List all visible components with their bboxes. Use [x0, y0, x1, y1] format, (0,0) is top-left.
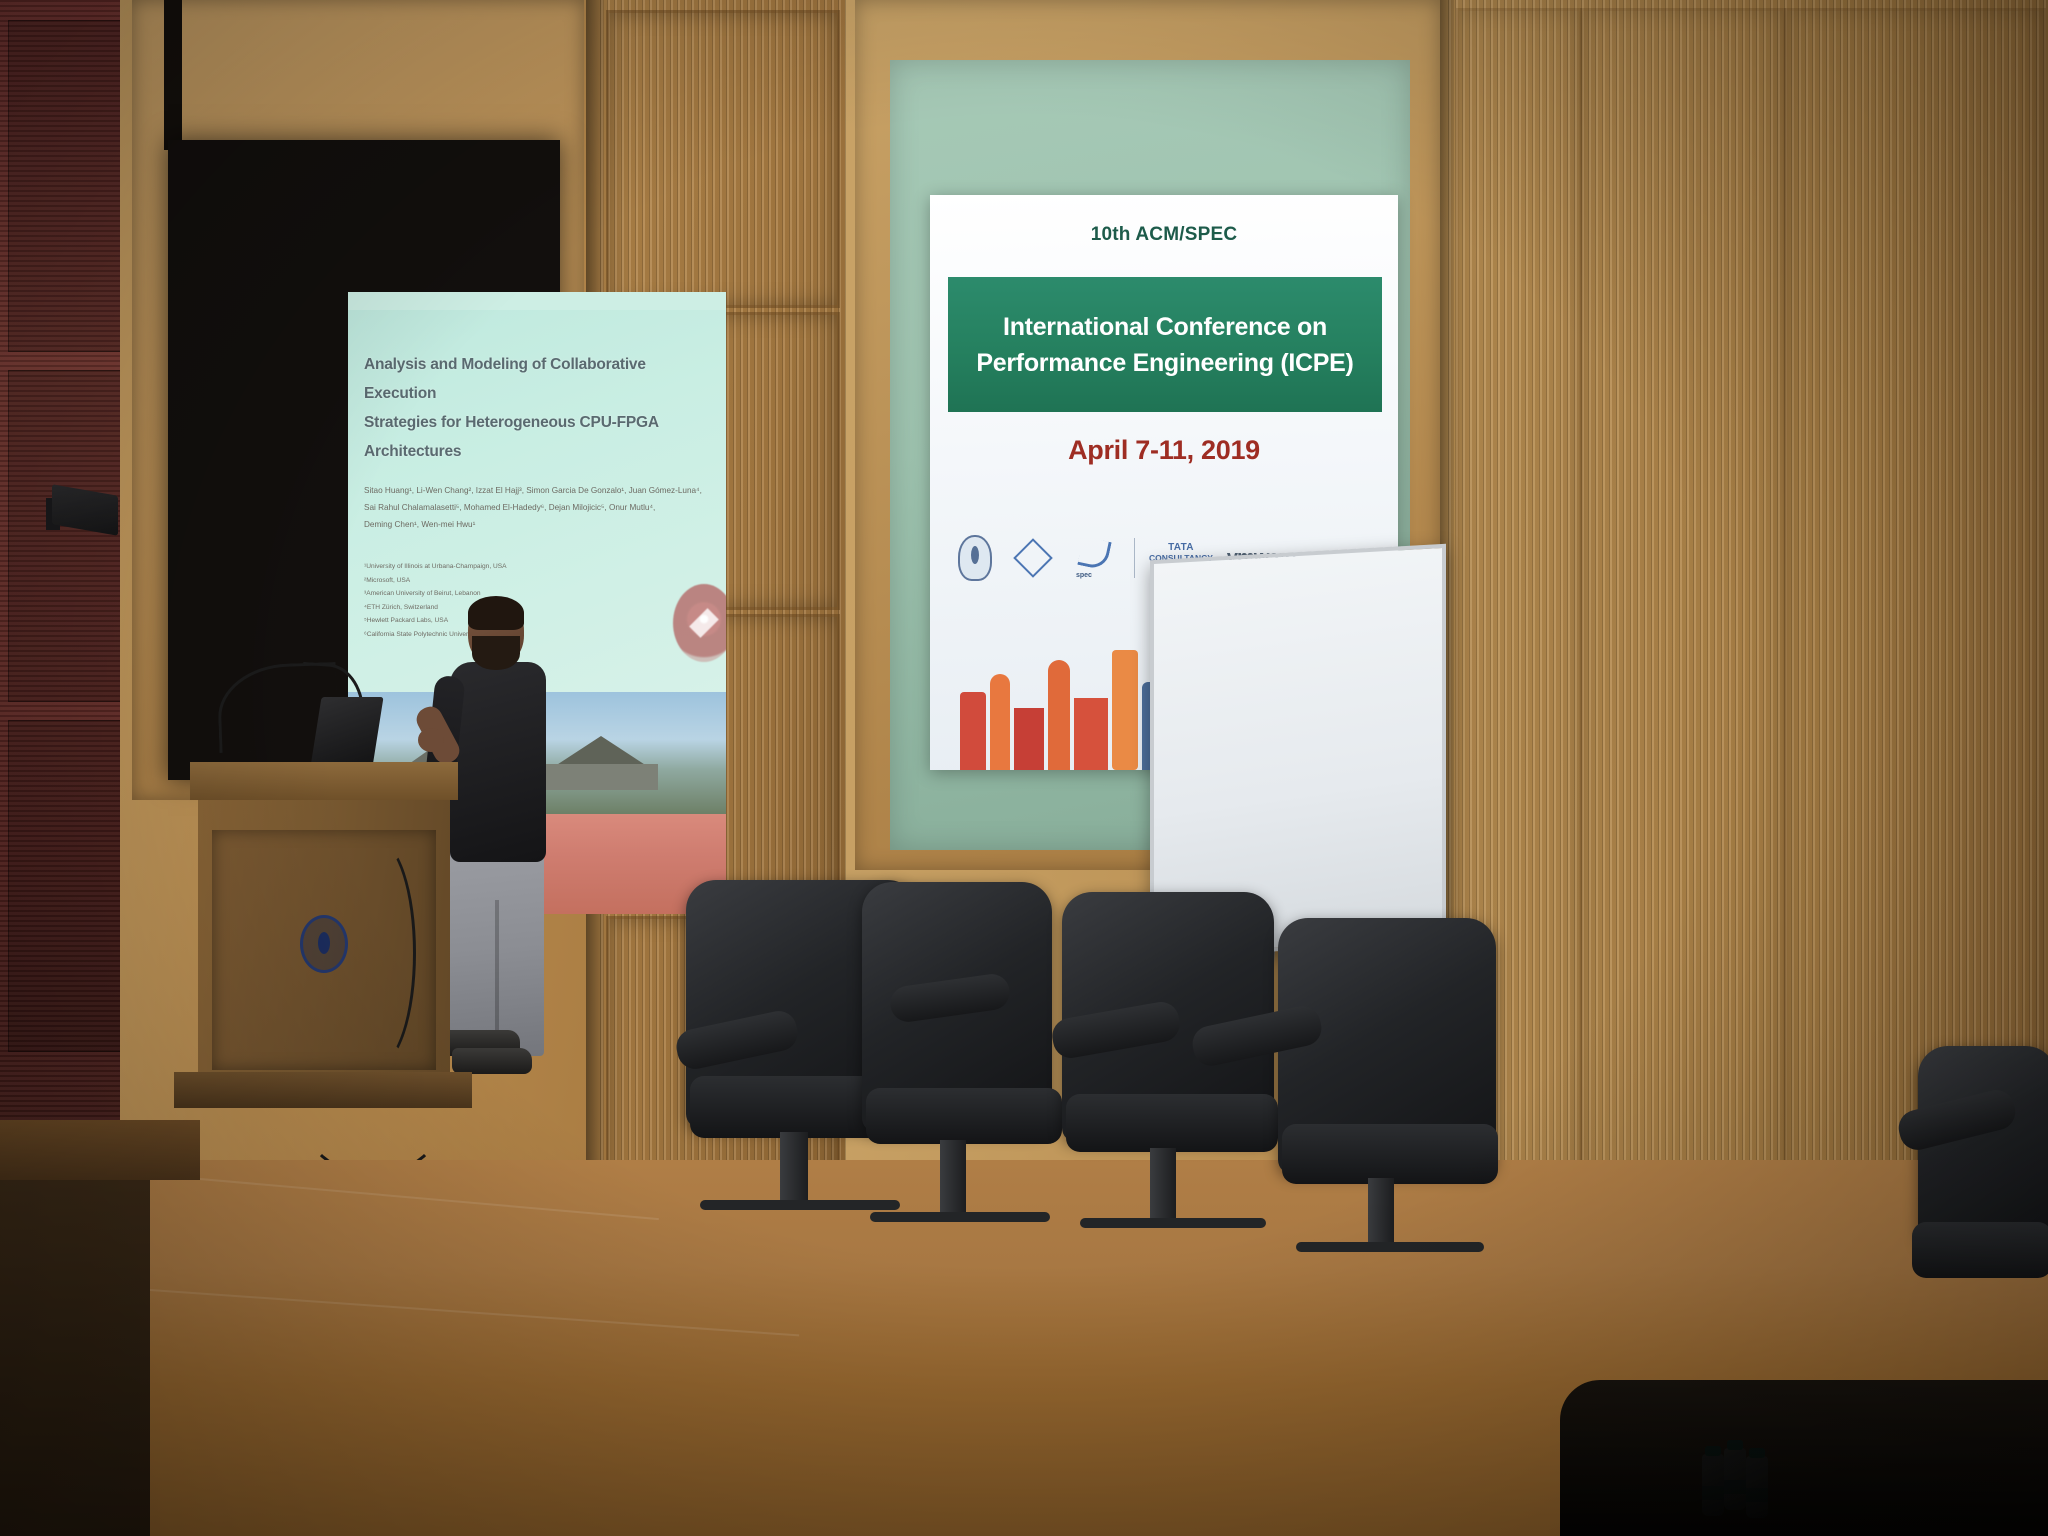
banner-title-block: International Conference on Performance … [948, 277, 1382, 412]
spec-logo-icon: spec [1074, 537, 1120, 579]
banner-title-line: International Conference on [1003, 311, 1327, 343]
slide-title-line: Strategies for Heterogeneous CPU-FPGA [364, 408, 709, 437]
presenter-beard [472, 636, 520, 670]
building-shape [1048, 660, 1070, 770]
iit-emblem-logo-icon [958, 535, 992, 581]
floor-cable [340, 840, 416, 1066]
chair-base [870, 1212, 1050, 1222]
author-line: Deming Chen¹, Wen-mei Hwu¹ [364, 516, 714, 533]
chair-base [1080, 1218, 1266, 1228]
chair-post [1368, 1178, 1394, 1250]
building-shape [990, 674, 1010, 770]
affiliation-line: ²Microsoft, USA [364, 574, 714, 588]
chair-seat [866, 1088, 1062, 1144]
affiliation-line: ⁴ETH Zürich, Switzerland [364, 601, 714, 615]
floor-cable [300, 1050, 446, 1176]
acm-diamond-icon [1013, 538, 1053, 578]
affiliation-line: ⁵Hewlett Packard Labs, USA [364, 614, 714, 628]
banner-organizer-text: 10th ACM/SPEC [1091, 224, 1238, 246]
presenter-hair [468, 596, 524, 630]
laptop[interactable] [310, 697, 383, 767]
chair-base [1296, 1242, 1484, 1252]
chair-base [700, 1200, 900, 1210]
university-seal-icon [673, 584, 726, 662]
building-shape [1014, 708, 1044, 770]
chair-post [780, 1132, 808, 1210]
podium-top [190, 762, 458, 800]
building-shape [1074, 698, 1108, 770]
building-shape [1112, 650, 1138, 770]
chair-seat [1912, 1222, 2048, 1278]
slide-title: Analysis and Modeling of Collaborative E… [364, 350, 709, 466]
slide-affiliations: ¹University of Illinois at Urbana-Champa… [364, 560, 714, 642]
tcs-line: TATA [1149, 542, 1213, 553]
spec-arc-icon [1077, 536, 1111, 570]
wood-panel [606, 10, 840, 308]
chair-seat [1066, 1094, 1278, 1152]
acm-logo-icon [1006, 542, 1060, 574]
presenter-torso [450, 662, 546, 862]
logo-divider [1134, 538, 1135, 578]
slide-title-line: Architectures [364, 437, 709, 466]
spec-logo-text: spec [1076, 572, 1092, 579]
affiliation-line: ¹University of Illinois at Urbana-Champa… [364, 560, 714, 574]
banner-top-line: 10th ACM/SPEC [930, 195, 1398, 275]
auditorium-photo: Analysis and Modeling of Collaborative E… [0, 0, 2048, 1536]
slide-authors: Sitao Huang¹, Li-Wen Chang², Izzat El Ha… [364, 482, 714, 533]
stage-edge [0, 1120, 200, 1180]
chair-post [940, 1140, 966, 1220]
chair-post [1150, 1148, 1176, 1226]
building-shape [960, 692, 986, 770]
chair-seat [1282, 1124, 1498, 1184]
affiliation-line: ⁶California State Polytechnic University… [364, 628, 714, 642]
presenter-hand [418, 728, 444, 752]
author-line: Sitao Huang¹, Li-Wen Chang², Izzat El Ha… [364, 482, 714, 499]
screen-recess [164, 0, 182, 150]
stage-shadow [0, 1180, 150, 1536]
author-line: Sai Rahul Chalamalasetti⁵, Mohamed El-Ha… [364, 499, 714, 516]
affiliation-line: ³American University of Beirut, Lebanon [364, 587, 714, 601]
banner-title-line: Performance Engineering (ICPE) [976, 347, 1353, 379]
foreground-seat-shadow [1560, 1380, 2048, 1536]
slide-title-line: Analysis and Modeling of Collaborative E… [364, 350, 709, 408]
wood-panel [1580, 8, 1786, 1234]
banner-date: April 7-11, 2019 [930, 435, 1398, 466]
presenter-shoe [452, 1048, 532, 1074]
chair-back [1918, 1046, 2048, 1246]
